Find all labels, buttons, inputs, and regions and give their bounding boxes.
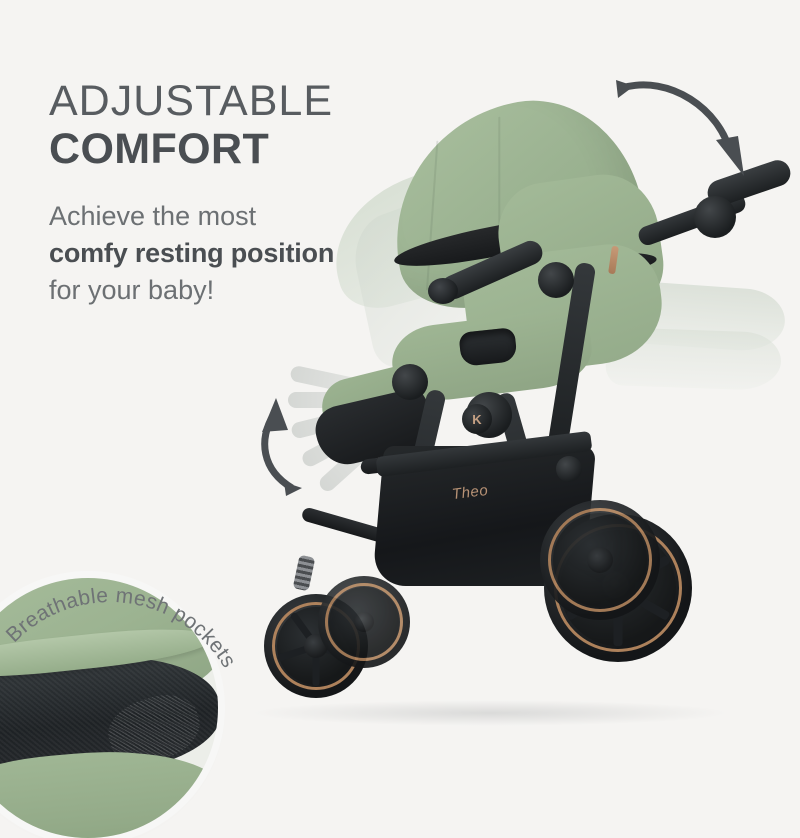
recline-arrow-top bbox=[612, 66, 752, 186]
backrest-joint bbox=[538, 262, 574, 298]
frame-joint bbox=[556, 456, 582, 482]
footrest-arrow-bottom bbox=[248, 392, 358, 502]
rear-wheel-far bbox=[540, 500, 660, 620]
brand-badge-glyph: K bbox=[472, 412, 481, 427]
handlebar-adjust-hub bbox=[694, 196, 736, 238]
legrest-joint bbox=[392, 364, 428, 400]
mesh-pocket-inset bbox=[0, 578, 218, 838]
marketing-banner: ADJUSTABLE COMFORT Achieve the most comf… bbox=[0, 0, 800, 800]
brand-badge: K bbox=[462, 404, 492, 434]
hub-cap bbox=[587, 547, 613, 573]
canopy-seam bbox=[426, 141, 438, 291]
bumper-bar-end bbox=[428, 278, 458, 304]
hub-cap bbox=[354, 612, 374, 632]
front-suspension-spring bbox=[293, 555, 316, 592]
front-wheel-far bbox=[318, 576, 410, 668]
ground-shadow bbox=[250, 700, 730, 726]
